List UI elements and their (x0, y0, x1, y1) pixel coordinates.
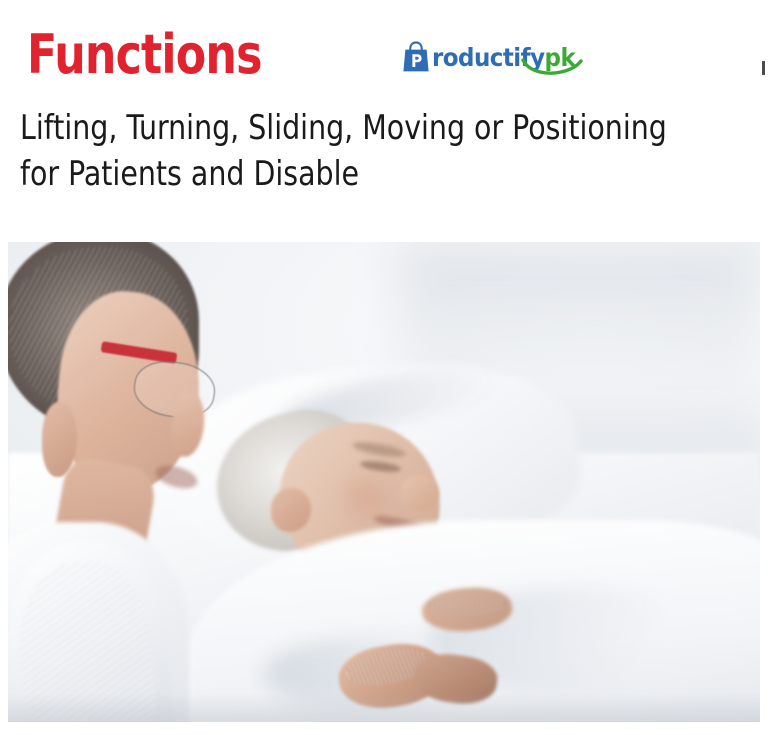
subtitle-line-1: Lifting, Turning, Sliding, Moving or Pos… (20, 105, 721, 151)
patient-cheek (330, 471, 400, 524)
brand-logo[interactable]: roductifypk (401, 38, 588, 76)
subtitle-line-2: for Patients and Disable (20, 151, 721, 197)
elderly-woman-caregiver (8, 242, 264, 722)
logo-word: roductify (432, 43, 545, 72)
header-section: Functions roductifypk Lifting, Turning, … (0, 0, 774, 236)
cropped-edge-artifact (762, 61, 765, 75)
product-photo (8, 242, 760, 722)
page-title: Functions (27, 26, 262, 84)
product-infographic-page: Functions roductifypk Lifting, Turning, … (0, 0, 774, 735)
subtitle: Lifting, Turning, Sliding, Moving or Pos… (20, 105, 721, 197)
photo-scene (8, 242, 760, 722)
logo-wordmark: roductifypk (432, 43, 575, 72)
logo-suffix: pk (545, 43, 576, 72)
shopping-bag-icon (401, 41, 431, 73)
caregiver-lips (153, 461, 200, 492)
